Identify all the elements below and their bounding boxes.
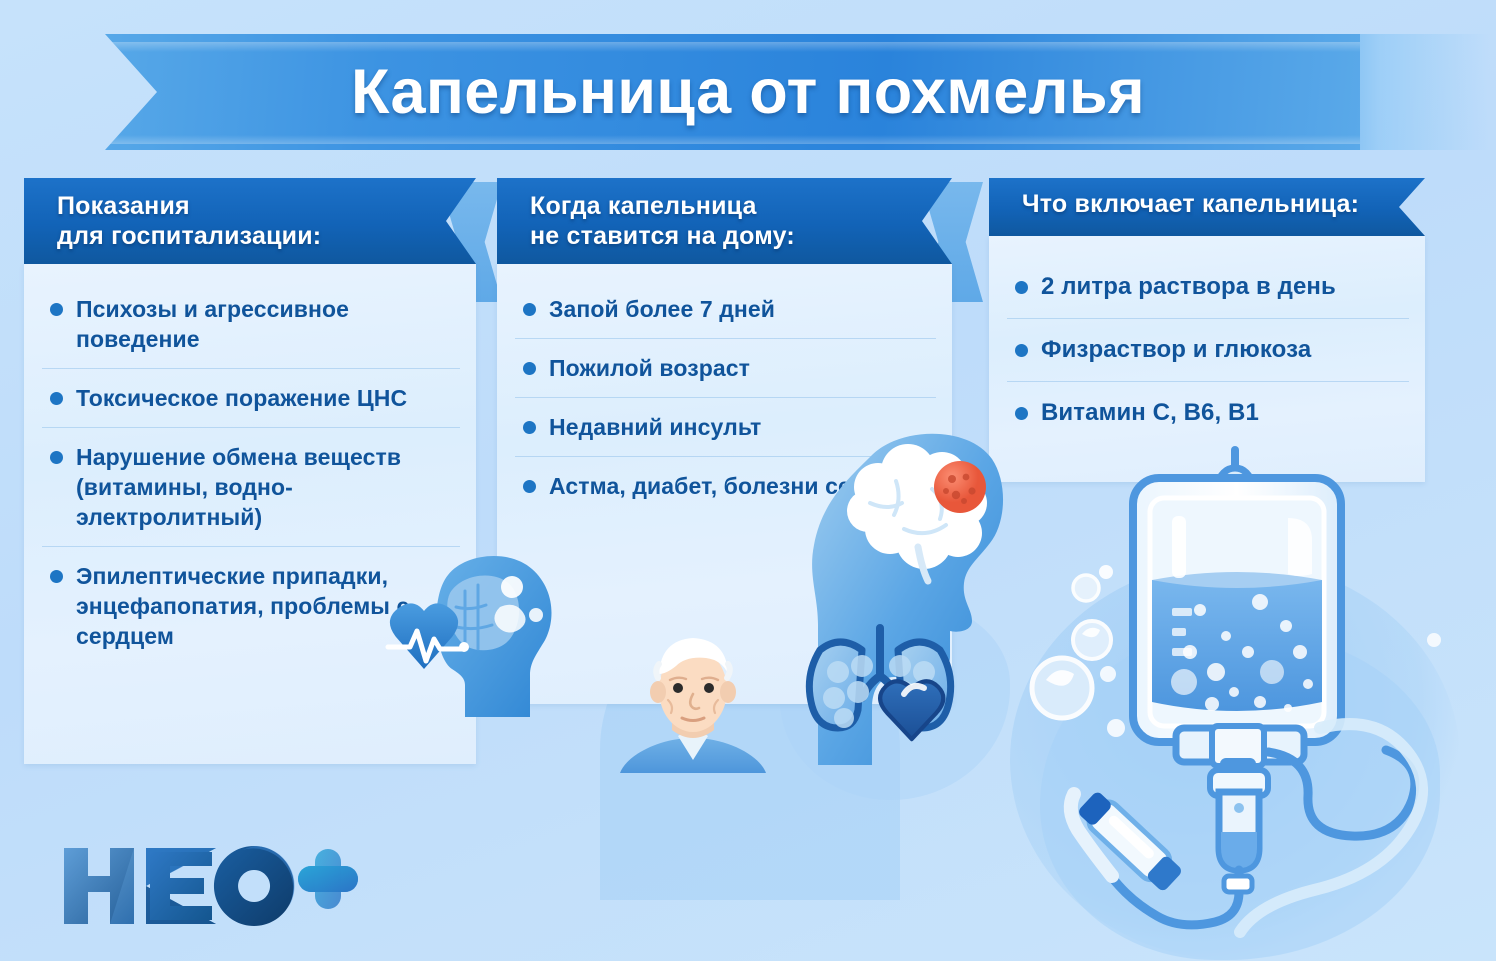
- list-item: Пожилой возраст: [515, 338, 936, 397]
- bullet-icon: [1015, 407, 1028, 420]
- column-header-contraindications: Когда капельница не ставится на дому:: [497, 178, 952, 264]
- list-item: Токсическое поражение ЦНС: [42, 368, 460, 427]
- list-item-label: Токсическое поражение ЦНС: [76, 383, 407, 413]
- list-item: Витамин С, В6, В1: [1007, 381, 1409, 444]
- bullet-icon: [523, 362, 536, 375]
- head-with-brain-and-heartbeat-icon: [370, 545, 595, 720]
- list-item-label: Психозы и агрессивное поведение: [76, 294, 454, 354]
- bullet-icon: [50, 570, 63, 583]
- neo-plus-logo: [58, 840, 358, 932]
- column-header-contents: Что включает капельница:: [989, 178, 1425, 236]
- list-item: Психозы и агрессивное поведение: [42, 284, 460, 368]
- list-item: 2 литра раствора в день: [1007, 256, 1409, 318]
- list-item: Нарушение обмена веществ (витамины, водн…: [42, 427, 460, 546]
- column-header-line1: Когда капельница: [530, 191, 902, 221]
- bullet-icon: [1015, 344, 1028, 357]
- bullet-icon: [523, 303, 536, 316]
- list-item-label: 2 литра раствора в день: [1041, 272, 1336, 302]
- list-item-label: Пожилой возраст: [549, 353, 750, 383]
- iv-drip-bag-icon: [1020, 440, 1475, 950]
- bullet-icon: [1015, 281, 1028, 294]
- title-banner: Капельница от похмелья: [0, 34, 1496, 150]
- list-item: Физраствор и глюкоза: [1007, 318, 1409, 381]
- column-contents: Что включает капельница: 2 литра раствор…: [989, 178, 1425, 482]
- elderly-man-avatar-icon: [608, 618, 778, 773]
- column-header-line1: Показания: [57, 191, 426, 221]
- column-header-line1: Что включает капельница:: [1022, 189, 1381, 219]
- column-header-line2: для госпитализации:: [57, 221, 426, 251]
- column-header-line2: не ставится на дому:: [530, 221, 902, 251]
- bullet-icon: [523, 421, 536, 434]
- list-item-label: Недавний инсульт: [549, 412, 761, 442]
- list-item-label: Запой более 7 дней: [549, 294, 775, 324]
- bullet-icon: [50, 451, 63, 464]
- lungs-and-heart-icon: [800, 620, 965, 760]
- list-item: Запой более 7 дней: [515, 284, 936, 338]
- list-item-label: Нарушение обмена веществ (витамины, водн…: [76, 442, 454, 532]
- page-title: Капельница от похмелья: [0, 34, 1496, 150]
- bullet-icon: [50, 392, 63, 405]
- bullet-icon: [50, 303, 63, 316]
- bullet-icon: [523, 480, 536, 493]
- list-item-label: Витамин С, В6, В1: [1041, 398, 1259, 428]
- list-item-label: Физраствор и глюкоза: [1041, 335, 1311, 365]
- column-header-indications: Показания для госпитализации:: [24, 178, 476, 264]
